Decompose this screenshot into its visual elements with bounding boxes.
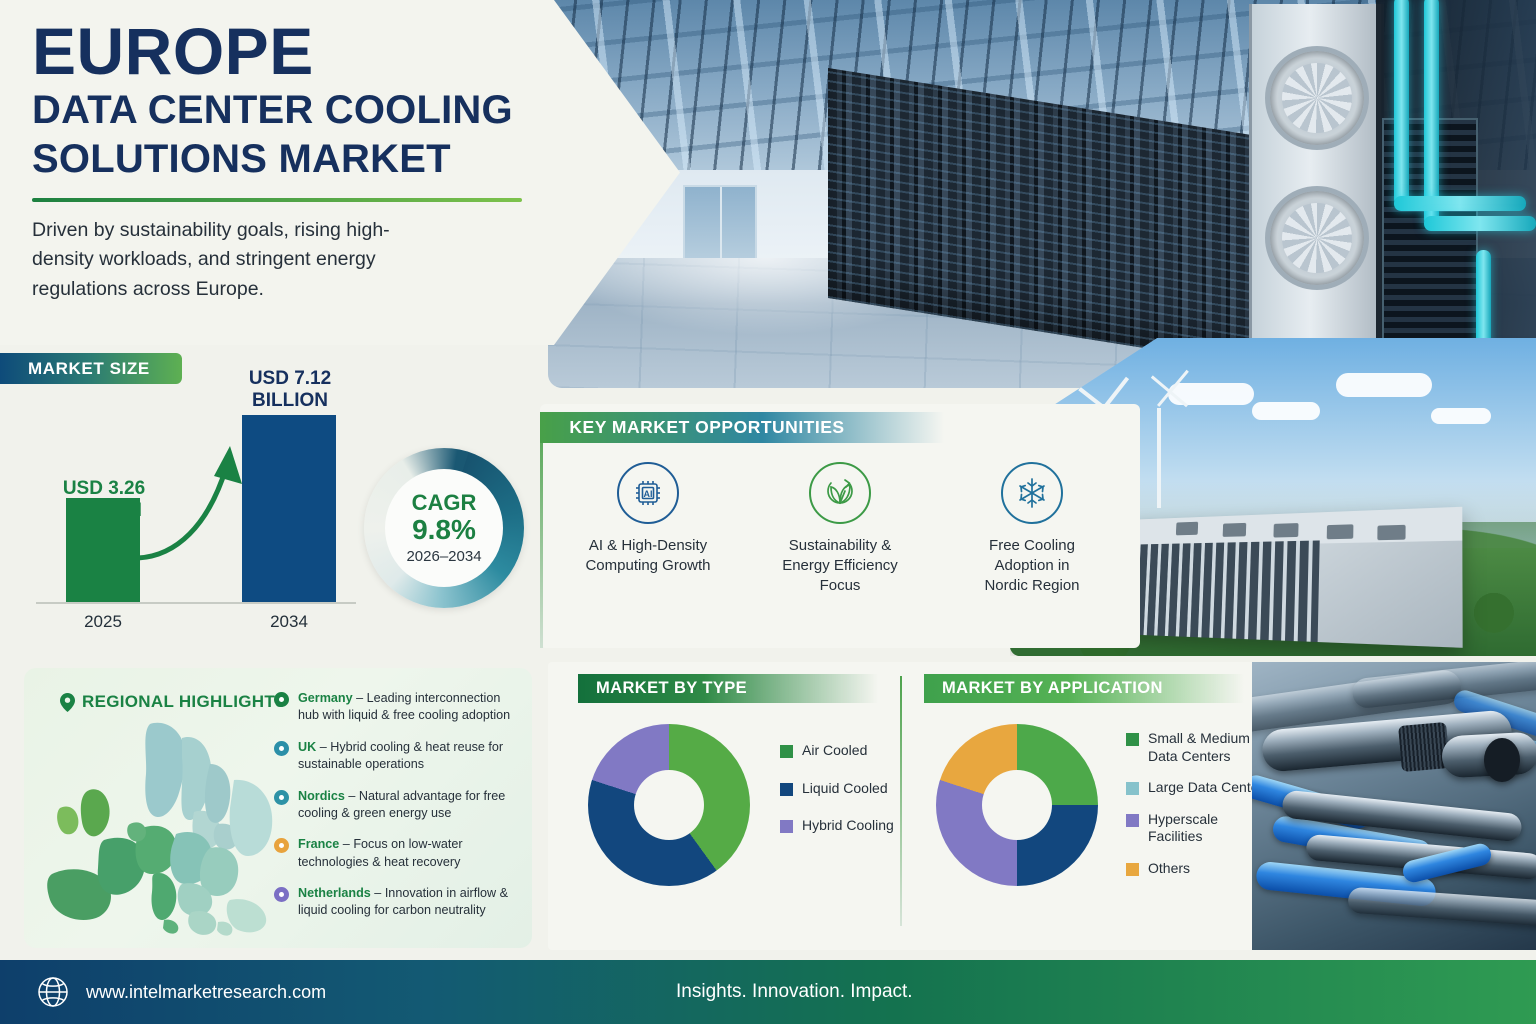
metal-pipe bbox=[1347, 887, 1536, 928]
pipe-segment bbox=[1424, 0, 1439, 226]
page-title-line3: SOLUTIONS MARKET bbox=[32, 137, 572, 182]
opportunity-label-free-cooling: Free Cooling Adoption in Nordic Region bbox=[936, 536, 1128, 595]
legend-label-air-cooled: Air Cooled bbox=[802, 742, 867, 760]
bullet-dot-germany bbox=[274, 692, 289, 707]
opp-sus-line1: Sustainability & bbox=[744, 536, 936, 556]
opp-fc-line2: Adoption in bbox=[936, 556, 1128, 576]
regional-item-nordics: Nordics – Natural advantage for free coo… bbox=[298, 788, 524, 823]
cagr-donut: CAGR 9.8% 2026–2034 bbox=[364, 448, 524, 608]
opportunity-label-sustainability: Sustainability & Energy Efficiency Focus bbox=[744, 536, 936, 595]
opp-fc-line1: Free Cooling bbox=[936, 536, 1128, 556]
opp-sus-line3: Focus bbox=[744, 576, 936, 596]
dash: – bbox=[316, 740, 330, 754]
bullet-dot-france bbox=[274, 838, 289, 853]
growth-arrow-icon bbox=[130, 440, 260, 570]
liquid-cooling-pipes-photo bbox=[1252, 662, 1536, 950]
cagr-period: 2026–2034 bbox=[406, 548, 481, 565]
donut-charts-card: MARKET BY TYPE MARKET BY APPLICATION Air… bbox=[548, 662, 1260, 950]
datacenter-building bbox=[1126, 507, 1463, 648]
pipe-fitting bbox=[1398, 722, 1450, 772]
opportunity-label-ai: AI & High-Density Computing Growth bbox=[552, 536, 744, 576]
bar-2034-value-line1: USD 7.12 bbox=[232, 368, 348, 390]
legend-swatch-hybrid-cooling bbox=[780, 820, 793, 833]
legend-label-hybrid-cooling: Hybrid Cooling bbox=[802, 817, 894, 835]
infographic-page: EUROPE DATA CENTER COOLING SOLUTIONS MAR… bbox=[0, 0, 1536, 1024]
opp-ai-line1: AI & High-Density bbox=[552, 536, 744, 556]
pipe-segment bbox=[1394, 0, 1409, 206]
cagr-label: CAGR bbox=[412, 491, 477, 514]
opportunity-item-ai[interactable]: AI AI & High-Density Computing Growth bbox=[552, 462, 744, 595]
globe-icon bbox=[36, 975, 70, 1009]
sustainability-leaf-icon bbox=[809, 462, 871, 524]
market-by-application-donut bbox=[936, 724, 1098, 886]
cooling-pipes bbox=[1376, 0, 1536, 388]
bullet-dot-netherlands bbox=[274, 887, 289, 902]
pipe-cap bbox=[1484, 738, 1520, 782]
legend-swatch-small-medium bbox=[1126, 733, 1139, 746]
bar-2025 bbox=[66, 498, 140, 602]
rooftop-ac-unit bbox=[1222, 522, 1246, 536]
opportunity-item-sustainability[interactable]: Sustainability & Energy Efficiency Focus bbox=[744, 462, 936, 595]
donut-hole bbox=[982, 770, 1052, 840]
legend-swatch-liquid-cooled bbox=[780, 783, 793, 796]
fan-icon bbox=[1265, 46, 1369, 150]
page-description: Driven by sustainability goals, rising h… bbox=[32, 216, 432, 305]
cloud bbox=[1252, 402, 1320, 420]
regional-highlights-heading: REGIONAL HIGHLIGHTS bbox=[60, 692, 287, 712]
page-title-line2: DATA CENTER COOLING bbox=[32, 88, 572, 133]
rooftop-ac-unit bbox=[1273, 523, 1298, 538]
market-size-badge: MARKET SIZE bbox=[0, 353, 182, 384]
rooftop-ac-unit bbox=[1377, 525, 1405, 540]
footer-bar: www.intelmarketresearch.com Insights. In… bbox=[0, 960, 1536, 1024]
bullet-dot-nordics bbox=[274, 790, 289, 805]
donut-hole bbox=[634, 770, 704, 840]
title-divider bbox=[32, 198, 522, 202]
building-facade bbox=[1126, 540, 1320, 642]
ai-chip-icon: AI bbox=[617, 462, 679, 524]
svg-text:AI: AI bbox=[644, 489, 653, 499]
list-item[interactable]: Nordics – Natural advantage for free coo… bbox=[274, 788, 524, 823]
rooftop-ac-unit bbox=[1327, 524, 1354, 539]
location-pin-icon bbox=[60, 693, 75, 712]
footer-url[interactable]: www.intelmarketresearch.com bbox=[86, 982, 326, 1003]
cagr-value: 9.8% bbox=[412, 514, 476, 545]
legend-swatch-others bbox=[1126, 863, 1139, 876]
dash: – bbox=[339, 837, 353, 851]
legend-swatch-air-cooled bbox=[780, 745, 793, 758]
legend-label-small-medium: Small & Medium Data Centers bbox=[1148, 730, 1250, 765]
fan-icon bbox=[1265, 186, 1369, 290]
dash: – bbox=[371, 886, 385, 900]
pipe-segment bbox=[1424, 216, 1536, 231]
market-by-type-legend: Air Cooled Liquid Cooled Hybrid Cooling bbox=[780, 742, 894, 855]
dash: – bbox=[353, 691, 367, 705]
opportunity-item-free-cooling[interactable]: Free Cooling Adoption in Nordic Region bbox=[936, 462, 1128, 595]
donut-separator bbox=[900, 676, 902, 926]
bar-2034-value-line2: BILLION bbox=[232, 390, 348, 412]
opportunity-items: AI AI & High-Density Computing Growth bbox=[552, 462, 1128, 595]
title-block: EUROPE DATA CENTER COOLING SOLUTIONS MAR… bbox=[32, 18, 572, 304]
regional-item-netherlands: Netherlands – Innovation in airflow & li… bbox=[298, 885, 524, 920]
legend-label-others: Others bbox=[1148, 860, 1190, 878]
market-by-type-heading: MARKET BY TYPE bbox=[578, 674, 878, 703]
list-item[interactable]: Netherlands – Innovation in airflow & li… bbox=[274, 885, 524, 920]
regional-highlights-card: REGIONAL HIGHLIGHTS bbox=[24, 668, 532, 948]
page-title-region: EUROPE bbox=[32, 18, 572, 84]
opp-ai-line2: Computing Growth bbox=[552, 556, 744, 576]
market-by-application-heading: MARKET BY APPLICATION bbox=[924, 674, 1244, 703]
bar-2025-label: 2025 bbox=[66, 612, 140, 632]
server-room-door bbox=[683, 185, 757, 265]
opp-fc-line3: Nordic Region bbox=[936, 576, 1128, 596]
regional-item-france: France – Focus on low-water technologies… bbox=[298, 836, 524, 871]
list-item[interactable]: France – Focus on low-water technologies… bbox=[274, 836, 524, 871]
regional-item-uk: UK – Hybrid cooling & heat reuse for sus… bbox=[298, 739, 524, 774]
market-by-type-donut bbox=[588, 724, 750, 886]
bullet-dot-uk bbox=[274, 741, 289, 756]
regional-list: Germany – Leading interconnection hub wi… bbox=[274, 690, 524, 934]
footer-tagline: Insights. Innovation. Impact. bbox=[676, 981, 913, 1003]
legend-item[interactable]: Air Cooled bbox=[780, 742, 894, 760]
legend-hs-line2: Facilities bbox=[1148, 828, 1218, 846]
hero-datacenter-photo bbox=[548, 0, 1536, 388]
key-opportunities-heading: KEY MARKET OPPORTUNITIES bbox=[540, 412, 944, 443]
dash: – bbox=[345, 789, 359, 803]
cooling-unit bbox=[1249, 4, 1384, 356]
legend-label-liquid-cooled: Liquid Cooled bbox=[802, 780, 888, 798]
legend-item[interactable]: Hybrid Cooling bbox=[780, 817, 894, 835]
country-name-france: France bbox=[298, 837, 339, 851]
regional-item-germany: Germany – Leading interconnection hub wi… bbox=[298, 690, 524, 725]
list-item[interactable]: UK – Hybrid cooling & heat reuse for sus… bbox=[274, 739, 524, 774]
legend-hs-line1: Hyperscale bbox=[1148, 811, 1218, 829]
europe-map bbox=[42, 716, 274, 938]
wind-turbine-icon bbox=[1157, 408, 1161, 508]
country-name-netherlands: Netherlands bbox=[298, 886, 371, 900]
pipe-segment bbox=[1394, 196, 1526, 211]
legend-item[interactable]: Liquid Cooled bbox=[780, 780, 894, 798]
key-opportunities-card: KEY MARKET OPPORTUNITIES AI AI & High bbox=[540, 404, 1140, 648]
cloud bbox=[1336, 373, 1432, 397]
country-name-germany: Germany bbox=[298, 691, 353, 705]
regional-heading-text: REGIONAL HIGHLIGHTS bbox=[82, 692, 287, 712]
chart-baseline bbox=[36, 602, 356, 604]
legend-sm-line1: Small & Medium bbox=[1148, 730, 1250, 748]
rooftop-ac-unit bbox=[1175, 522, 1197, 536]
bar-2034-label: 2034 bbox=[242, 612, 336, 632]
legend-swatch-hyperscale bbox=[1126, 814, 1139, 827]
list-item[interactable]: Germany – Leading interconnection hub wi… bbox=[274, 690, 524, 725]
country-name-uk: UK bbox=[298, 740, 316, 754]
country-name-nordics: Nordics bbox=[298, 789, 345, 803]
cagr-content: CAGR 9.8% 2026–2034 bbox=[385, 469, 503, 587]
legend-swatch-large-dc bbox=[1126, 782, 1139, 795]
bar-2034-value: USD 7.12 BILLION bbox=[232, 368, 348, 413]
card-accent-bar bbox=[540, 412, 543, 648]
snowflake-icon bbox=[1001, 462, 1063, 524]
market-size-badge-label: MARKET SIZE bbox=[28, 359, 150, 379]
opp-sus-line2: Energy Efficiency bbox=[744, 556, 936, 576]
legend-sm-line2: Data Centers bbox=[1148, 748, 1250, 766]
legend-label-hyperscale: Hyperscale Facilities bbox=[1148, 811, 1218, 846]
cloud bbox=[1431, 408, 1491, 424]
